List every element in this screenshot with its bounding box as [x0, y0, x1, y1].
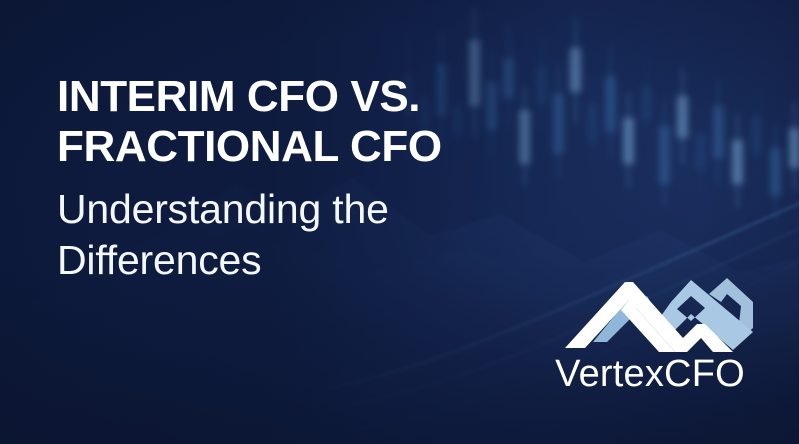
page-title: INTERIM CFO VS. FRACTIONAL CFO — [57, 72, 527, 172]
page-subtitle: Understanding the Differences — [57, 184, 527, 286]
text-block: INTERIM CFO VS. FRACTIONAL CFO Understan… — [57, 72, 527, 286]
headline-line-2: FRACTIONAL CFO — [57, 122, 527, 172]
mountain-peaks-svg — [563, 272, 753, 352]
subhead-line-2: Differences — [57, 235, 527, 286]
logo-wordmark: VertexCFO — [519, 352, 781, 396]
mountain-peaks-icon — [563, 272, 753, 352]
subhead-line-1: Understanding the — [57, 184, 527, 235]
logo: VertexCFO — [519, 272, 781, 400]
headline-line-1: INTERIM CFO VS. — [57, 72, 527, 122]
banner-image: INTERIM CFO VS. FRACTIONAL CFO Understan… — [0, 0, 799, 444]
